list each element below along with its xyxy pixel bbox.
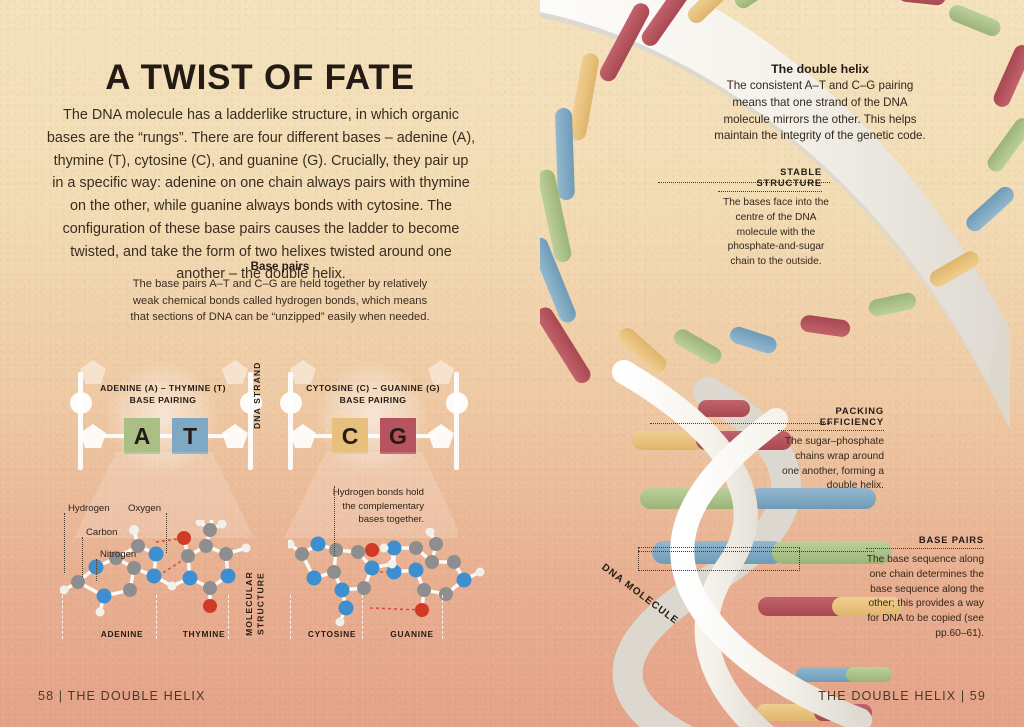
molecule-divider bbox=[62, 595, 63, 639]
double-helix-body: The consistent A–T and C–G pairing means… bbox=[714, 78, 926, 145]
sugar-pentagon bbox=[428, 360, 454, 384]
callout-packing-efficiency: PACKING EFFICIENCY The sugar–phosphate c… bbox=[778, 405, 884, 494]
callout-body: The base sequence along one chain determ… bbox=[866, 549, 984, 642]
pairing-title-cg: CYTOSINE (C) – GUANINE (G) BASE PAIRING bbox=[290, 382, 456, 407]
callout-title: PACKING EFFICIENCY bbox=[778, 405, 884, 430]
leader-carbon bbox=[82, 537, 83, 577]
left-page: A TWIST OF FATE The DNA molecule has a l… bbox=[0, 0, 560, 727]
atom-label-hydrogen: Hydrogen bbox=[68, 503, 110, 514]
double-helix-callout: The double helix The consistent A–T and … bbox=[714, 62, 926, 145]
backbone-bond bbox=[158, 434, 172, 438]
base-swatch-a: A bbox=[124, 418, 160, 454]
backbone-bond bbox=[366, 434, 380, 438]
callout-title: BASE PAIRS bbox=[866, 534, 984, 548]
molecule-divider bbox=[290, 595, 291, 639]
atom-label-nitrogen: Nitrogen bbox=[100, 549, 136, 560]
backbone-bond bbox=[102, 434, 124, 438]
dna-strand-label: DNA STRAND bbox=[252, 360, 262, 430]
hydrogen-bond-note: Hydrogen bonds hold the complementary ba… bbox=[332, 486, 424, 527]
callout-stable-structure: STABLE STRUCTURE The bases face into the… bbox=[718, 166, 822, 270]
leader-hydrogen bbox=[64, 513, 65, 573]
molecule-name-thymine: THYMINE bbox=[164, 629, 244, 639]
base-swatch-c: C bbox=[332, 418, 368, 454]
sugar-pentagon bbox=[80, 360, 106, 384]
leader-hydrogen-bond-note bbox=[334, 486, 335, 556]
book-spread: The double helix The consistent A–T and … bbox=[0, 0, 1024, 727]
atom-label-oxygen: Oxygen bbox=[128, 503, 161, 514]
callout-body: The bases face into the centre of the DN… bbox=[718, 192, 834, 270]
backbone-bond bbox=[312, 434, 334, 438]
molecule-name-cytosine: CYTOSINE bbox=[292, 629, 372, 639]
pairing-title-at: ADENINE (A) – THYMINE (T) BASE PAIRING bbox=[80, 382, 246, 407]
leader-nitrogen bbox=[96, 559, 97, 581]
base-pairs-caption: Base pairs The base pairs A–T and C–G ar… bbox=[130, 258, 430, 326]
leader-oxygen bbox=[166, 513, 167, 553]
atoms bbox=[288, 528, 485, 627]
backbone-bond bbox=[206, 434, 228, 438]
molecule-name-adenine: ADENINE bbox=[82, 629, 162, 639]
molecule-cytosine-guanine bbox=[288, 528, 503, 633]
molecule-name-guanine: GUANINE bbox=[372, 629, 452, 639]
base-pairs-highlight-box bbox=[638, 547, 800, 571]
footer-left: 58 | THE DOUBLE HELIX bbox=[38, 689, 206, 703]
atom-label-carbon: Carbon bbox=[86, 527, 117, 538]
sugar-pentagon bbox=[290, 360, 316, 384]
base-pairs-caption-body: The base pairs A–T and C–G are held toge… bbox=[130, 278, 429, 323]
base-swatch-g: G bbox=[380, 418, 416, 454]
double-helix-heading: The double helix bbox=[714, 62, 926, 76]
footer-right: THE DOUBLE HELIX | 59 bbox=[818, 689, 986, 703]
base-swatch-t: T bbox=[172, 418, 208, 454]
base-pairs-caption-heading: Base pairs bbox=[130, 258, 430, 275]
callout-title: STABLE STRUCTURE bbox=[718, 166, 822, 191]
sugar-pentagon bbox=[222, 360, 248, 384]
page-title: A TWIST OF FATE bbox=[0, 58, 520, 98]
callout-base-pairs: BASE PAIRS The base sequence along one c… bbox=[866, 534, 984, 642]
callout-body: The sugar–phosphate chains wrap around o… bbox=[778, 431, 884, 494]
